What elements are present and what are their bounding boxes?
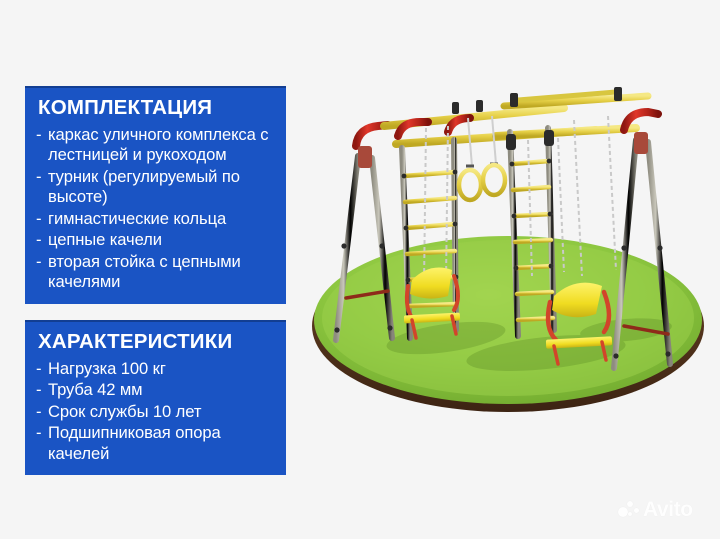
list-item: - Подшипниковая опора качелей [36, 423, 276, 464]
list-item-text: цепные качели [48, 230, 162, 249]
list-item-text: Срок службы 10 лет [48, 402, 201, 421]
info-panel-harakteristiki: ХАРАКТЕРИСТИКИ - Нагрузка 100 кг - Труба… [25, 320, 286, 475]
product-photo [296, 8, 720, 528]
bullet-dash: - [36, 209, 41, 229]
panel-title: ХАРАКТЕРИСТИКИ [38, 331, 276, 354]
panel-list: - Нагрузка 100 кг - Труба 42 мм - Срок с… [36, 359, 276, 464]
list-item: - каркас уличного комплекса с лестницей … [36, 125, 276, 166]
bullet-dash: - [36, 125, 41, 145]
bullet-dash: - [36, 359, 41, 379]
list-item-text: Подшипниковая опора качелей [48, 423, 221, 462]
list-item-text: Нагрузка 100 кг [48, 359, 166, 378]
bullet-dash: - [36, 230, 41, 250]
panel-list: - каркас уличного комплекса с лестницей … [36, 125, 276, 293]
watermark-brand: Avito [643, 499, 693, 520]
list-item-text: каркас уличного комплекса с лестницей и … [48, 125, 268, 164]
bullet-dash: - [36, 423, 41, 443]
panel-title: КОМПЛЕКТАЦИЯ [38, 97, 276, 120]
info-panel-komplektaciya: КОМПЛЕКТАЦИЯ - каркас уличного комплекса… [25, 86, 286, 304]
bullet-dash: - [36, 252, 41, 272]
list-item: - Труба 42 мм [36, 380, 276, 400]
product-listing-image: КОМПЛЕКТАЦИЯ - каркас уличного комплекса… [0, 0, 720, 539]
list-item-text: вторая стойка с цепными качелями [48, 252, 241, 291]
list-item: - цепные качели [36, 230, 276, 250]
list-item: - гимнастические кольца [36, 209, 276, 229]
bullet-dash: - [36, 402, 41, 422]
list-item: - вторая стойка с цепными качелями [36, 252, 276, 293]
list-item-text: турник (регулируемый по высоте) [48, 167, 240, 206]
bullet-dash: - [36, 380, 41, 400]
gymnastic-rings [459, 116, 505, 200]
list-item-text: гимнастические кольца [48, 209, 226, 228]
list-item-text: Труба 42 мм [48, 380, 142, 399]
avito-dots-icon [618, 499, 640, 519]
list-item: - Срок службы 10 лет [36, 402, 276, 422]
list-item: - турник (регулируемый по высоте) [36, 167, 276, 208]
playground-illustration [296, 8, 720, 528]
list-item: - Нагрузка 100 кг [36, 359, 276, 379]
bullet-dash: - [36, 167, 41, 187]
avito-watermark: Avito [618, 496, 706, 522]
